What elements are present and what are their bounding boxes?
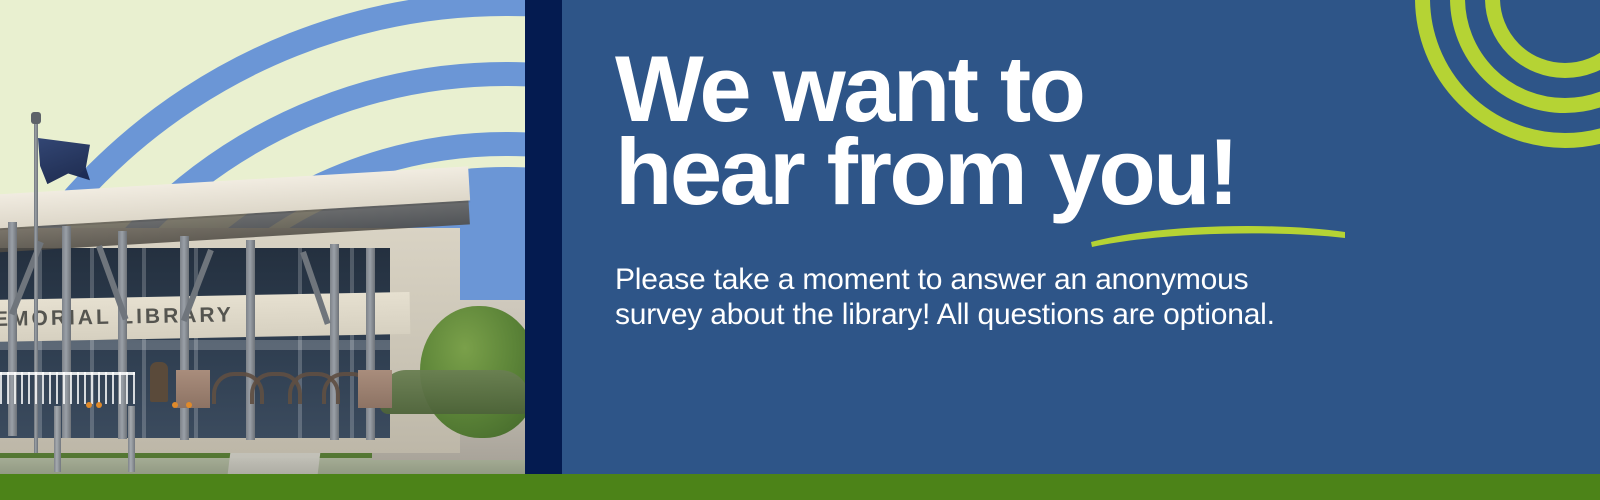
flower-2 [96, 402, 102, 408]
column-5 [246, 240, 255, 440]
brick-pier-1 [176, 370, 210, 408]
column-3 [118, 231, 127, 439]
column-6 [330, 244, 339, 440]
survey-description: Please take a moment to answer an anonym… [615, 262, 1445, 333]
flower-1 [86, 402, 92, 408]
bollard-2 [128, 406, 135, 472]
sidewalk-edge [0, 458, 525, 474]
state-flag-icon [38, 138, 90, 186]
fence-railing [0, 372, 135, 404]
seated-statue [150, 362, 168, 402]
brick-pier-2 [358, 370, 392, 408]
bottom-bar-segment [525, 474, 562, 500]
survey-promo-banner: EMORIAL LIBRARY [0, 0, 1600, 500]
library-photo-foreground: EMORIAL LIBRARY [0, 0, 525, 500]
library-photo-panel: EMORIAL LIBRARY [0, 0, 525, 500]
column-7 [366, 248, 375, 440]
flower-4 [186, 402, 192, 408]
bottom-accent-bar [0, 474, 1600, 500]
navy-divider-bar [525, 0, 562, 500]
column-2 [62, 226, 71, 438]
flower-3 [172, 402, 178, 408]
column-4 [180, 236, 189, 440]
flagpole-finial [31, 112, 41, 124]
message-panel: We want to hear from you! Please take a … [562, 0, 1600, 500]
library-name-sign: EMORIAL LIBRARY [0, 304, 204, 332]
page-title: We want to hear from you! [615, 48, 1515, 213]
shrub-row [380, 370, 525, 414]
bollard-1 [54, 406, 61, 472]
